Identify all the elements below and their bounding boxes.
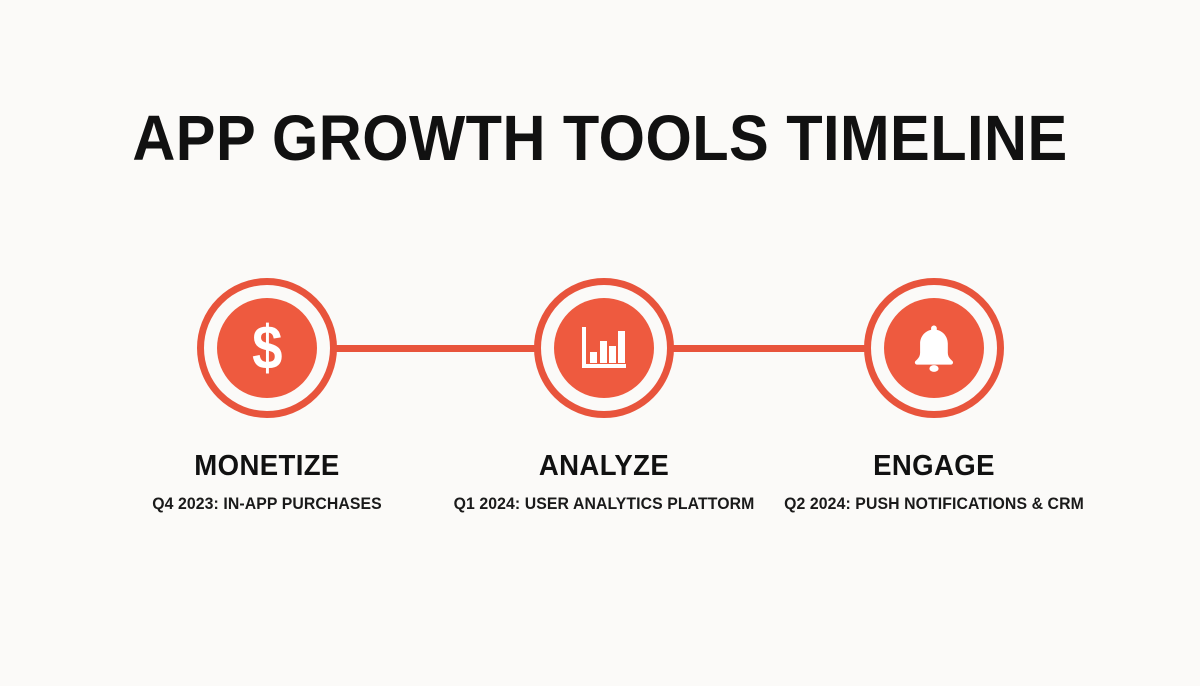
timeline-connector-2 — [670, 345, 866, 352]
node-disc: $ — [217, 298, 317, 398]
timeline-connector-1 — [334, 345, 538, 352]
dollar-sign-icon: $ — [252, 318, 282, 380]
bell-icon — [906, 320, 962, 376]
node-disc — [554, 298, 654, 398]
infographic-canvas: APP GROWTH TOOLS TIMELINE $ — [0, 0, 1200, 686]
step-detail: Q2 2024: PUSH NOTIFICATIONS & CRM — [739, 494, 1130, 514]
bar-chart-icon — [575, 319, 633, 377]
timeline-node-engage[interactable] — [864, 278, 1004, 418]
timeline-caption-engage: ENGAGE Q2 2024: PUSH NOTIFICATIONS & CRM — [724, 450, 1144, 514]
timeline-node-monetize[interactable]: $ — [197, 278, 337, 418]
timeline-node-analyze[interactable] — [534, 278, 674, 418]
timeline: $ — [0, 0, 1200, 686]
node-disc — [884, 298, 984, 398]
step-label: ENGAGE — [735, 450, 1134, 482]
